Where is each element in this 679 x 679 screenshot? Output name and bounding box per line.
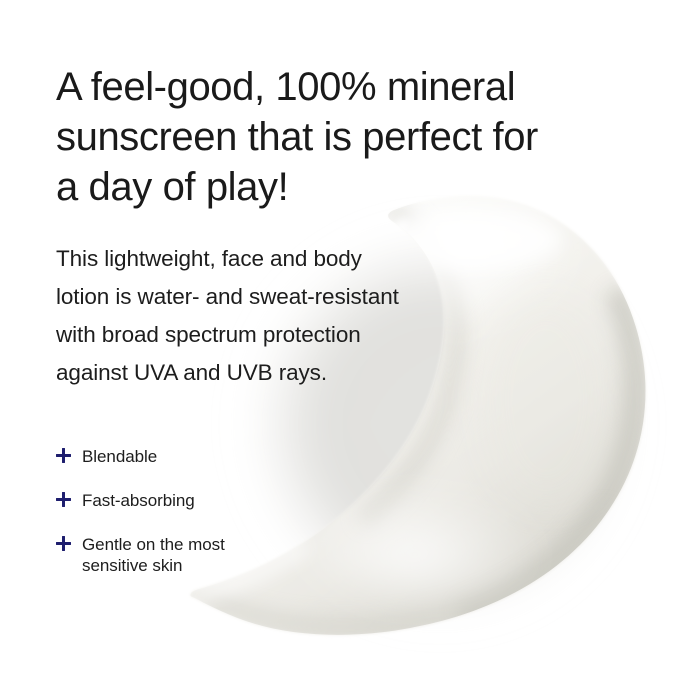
plus-icon [56,534,72,554]
plus-icon [56,490,72,510]
body-paragraph: This lightweight, face and body lotion i… [56,240,456,392]
headline: A feel-good, 100% mineral sunscreen that… [56,62,596,212]
feature-list: Blendable Fast-absorbing Gentle on the m… [56,446,386,576]
feature-label: Blendable [82,446,386,467]
list-item: Gentle on the most sensitive skin [56,534,386,576]
list-item: Blendable [56,446,386,467]
plus-icon [56,446,72,466]
text-content: A feel-good, 100% mineral sunscreen that… [0,0,679,679]
list-item: Fast-absorbing [56,490,386,511]
feature-label: Gentle on the most sensitive skin [82,534,386,576]
feature-label: Fast-absorbing [82,490,386,511]
product-feature-panel: A feel-good, 100% mineral sunscreen that… [0,0,679,679]
